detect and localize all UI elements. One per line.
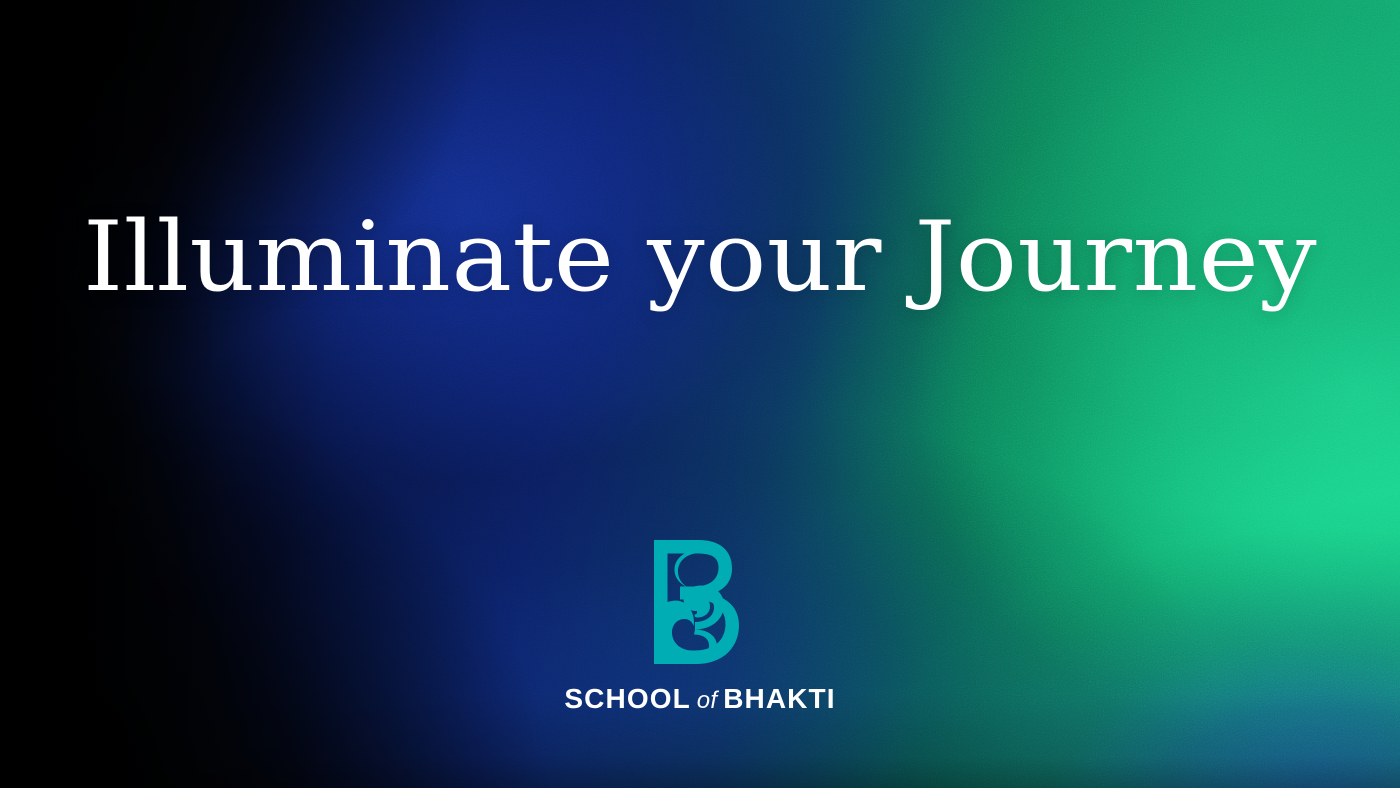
wordmark-school: SCHOOL xyxy=(564,685,690,713)
slide-content: Illuminate your Journey SCHOOL of BHAKTI xyxy=(0,0,1400,788)
wordmark-bhakti: BHAKTI xyxy=(723,685,835,713)
brand-lockup: SCHOOL of BHAKTI xyxy=(0,540,1400,713)
promo-slide: Illuminate your Journey SCHOOL of BHAKTI xyxy=(0,0,1400,788)
brand-wordmark: SCHOOL of BHAKTI xyxy=(564,685,835,713)
wordmark-of: of xyxy=(691,689,723,713)
page-title: Illuminate your Journey xyxy=(0,206,1400,310)
school-of-bhakti-monogram-icon xyxy=(654,540,746,664)
